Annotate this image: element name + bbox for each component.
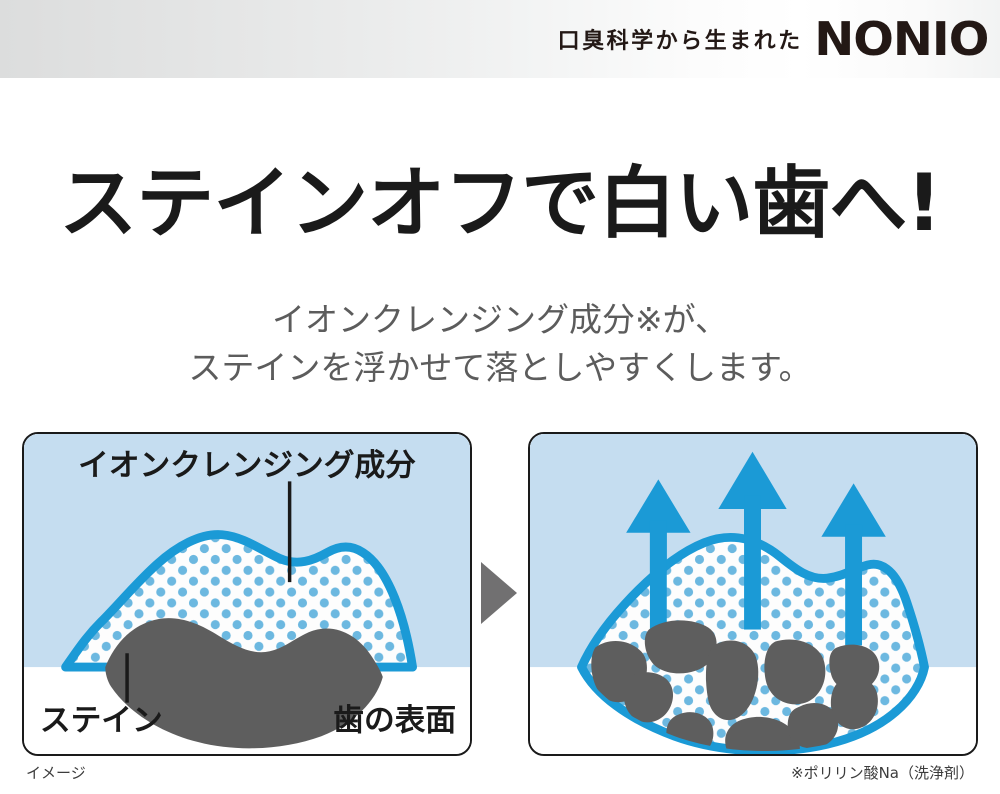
stain-fragment bbox=[764, 639, 825, 704]
footnote-ingredient: ※ポリリン酸Na（洗浄剤） bbox=[791, 762, 974, 783]
nonio-brand-logo: NONIO bbox=[814, 16, 988, 62]
footnote-image-disclaimer: イメージ bbox=[26, 762, 86, 783]
label-tooth-surface: 歯の表面 bbox=[333, 703, 456, 738]
page-headline: ステインオフで白い歯へ! bbox=[0, 165, 1000, 243]
after-illustration bbox=[530, 434, 976, 754]
diagram-panel-before: イオンクレンジング成分 ステイン 歯の表面 bbox=[22, 432, 472, 756]
subheadline-line-2: ステインを浮かせて落としやすくします。 bbox=[0, 344, 1000, 392]
step-arrow-icon bbox=[481, 562, 517, 624]
before-illustration: イオンクレンジング成分 ステイン 歯の表面 bbox=[24, 434, 470, 754]
page-subheadline: イオンクレンジング成分※が、 ステインを浮かせて落としやすくします。 bbox=[0, 296, 1000, 392]
subheadline-line-1: イオンクレンジング成分※が、 bbox=[0, 296, 1000, 344]
diagram-panel-after bbox=[528, 432, 978, 756]
page-header: 口臭科学から生まれた NONIO bbox=[0, 0, 1000, 78]
label-ion-cleansing: イオンクレンジング成分 bbox=[78, 449, 416, 484]
label-stain: ステイン bbox=[40, 703, 163, 738]
header-tagline: 口臭科学から生まれた bbox=[558, 23, 803, 55]
